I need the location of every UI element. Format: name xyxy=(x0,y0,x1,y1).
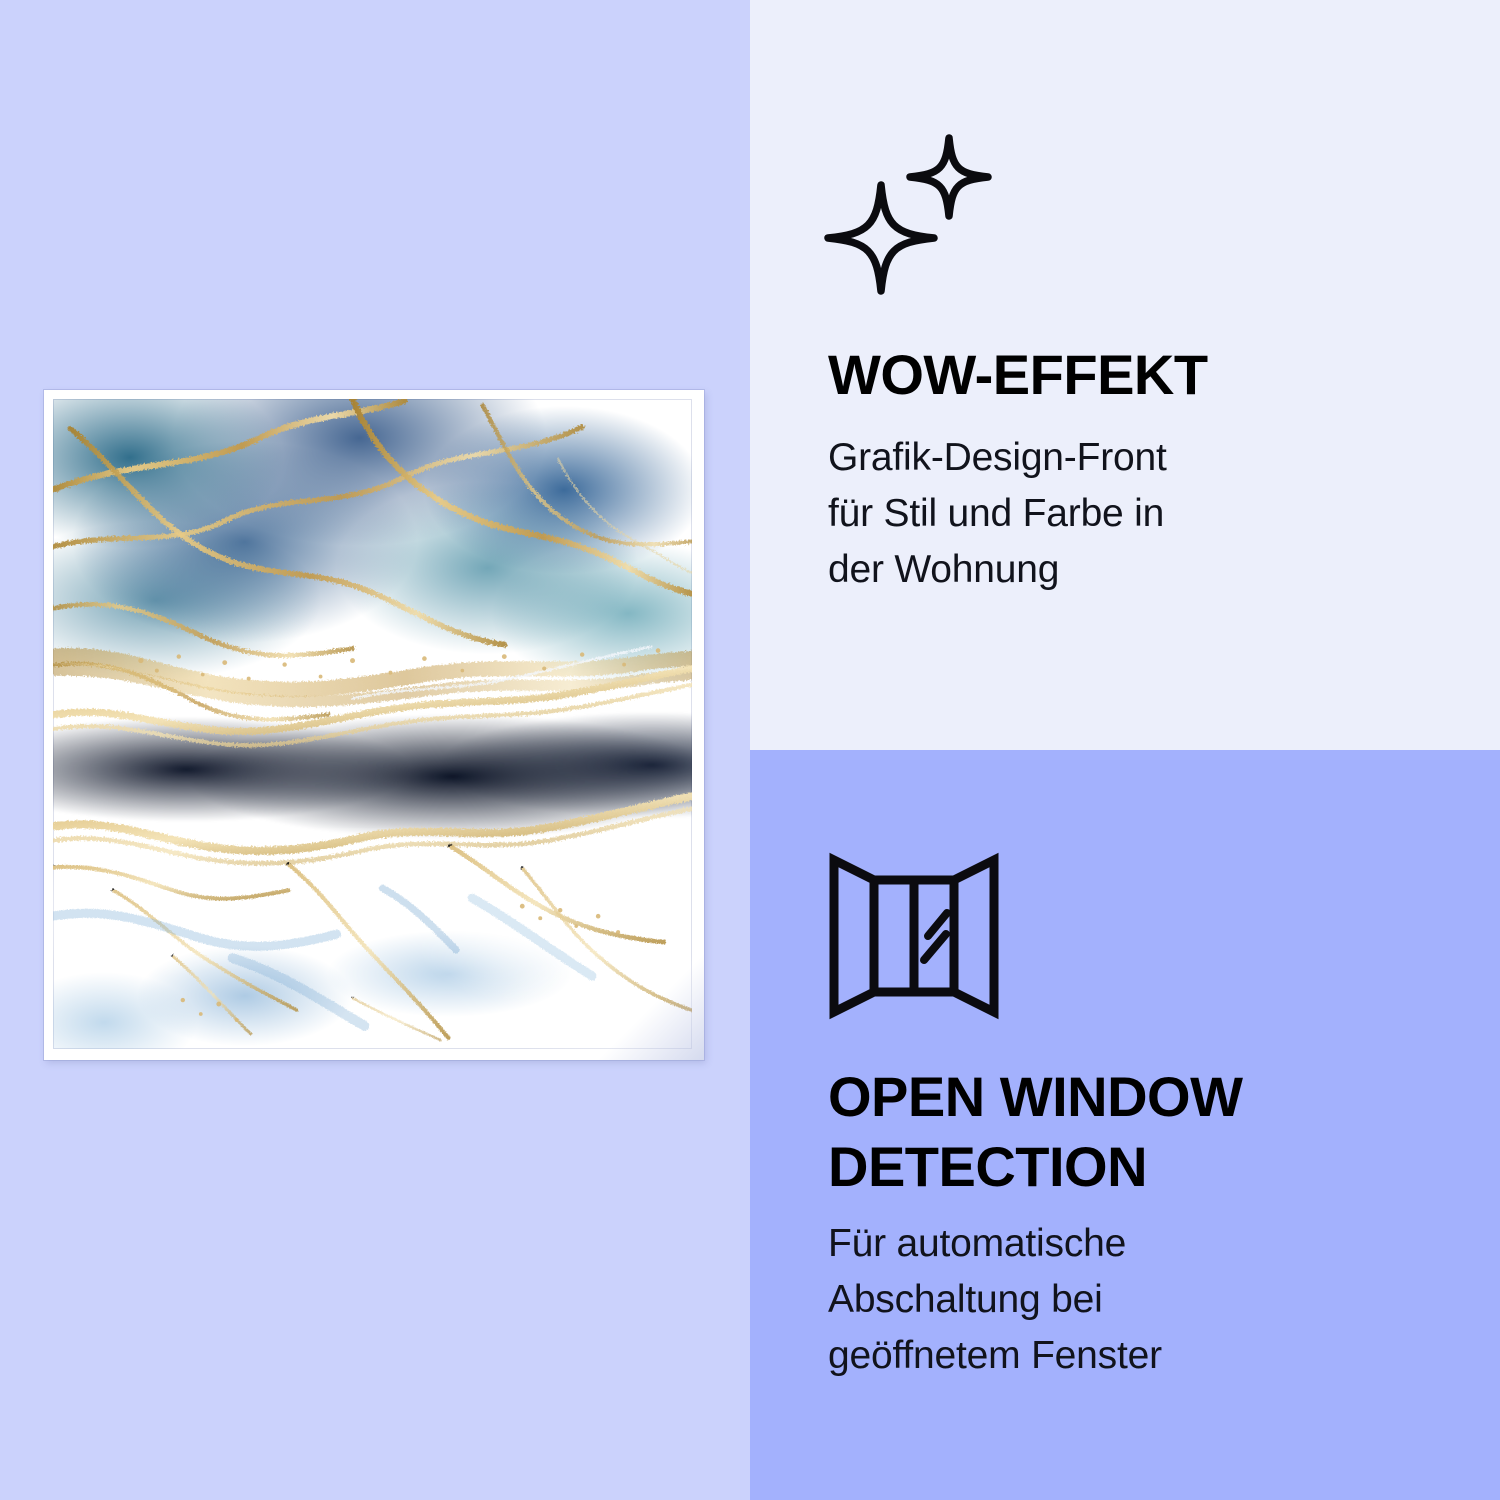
feature-heading-line: OPEN WINDOW xyxy=(828,1062,1454,1132)
feature-body-line: der Wohnung xyxy=(828,542,1460,598)
open-window-icon xyxy=(828,850,1000,1027)
feature-body-line: Für automatische xyxy=(828,1216,1460,1272)
sparkle-icon xyxy=(824,128,994,303)
feature-body-line: Grafik-Design-Front xyxy=(828,430,1460,486)
feature-body-wow-effekt: Grafik-Design-Front für Stil und Farbe i… xyxy=(828,430,1460,598)
feature-body-open-window-detection: Für automatische Abschaltung bei geöffne… xyxy=(828,1216,1460,1384)
picture-frame xyxy=(44,390,704,1060)
feature-body-line: geöffnetem Fenster xyxy=(828,1328,1460,1384)
feature-heading-line: DETECTION xyxy=(828,1132,1454,1202)
feature-body-line: Abschaltung bei xyxy=(828,1272,1460,1328)
feature-body-line: für Stil und Farbe in xyxy=(828,486,1460,542)
feature-heading-wow-effekt: WOW-EFFEKT xyxy=(828,340,1454,410)
product-image-column xyxy=(0,0,750,1500)
feature-panel-open-window-detection: OPEN WINDOW DETECTION Für automatische A… xyxy=(750,750,1500,1500)
feature-card-page: WOW-EFFEKT Grafik-Design-Front für Stil … xyxy=(0,0,1500,1500)
marble-artwork-canvas xyxy=(53,399,692,1049)
framed-artwork[interactable] xyxy=(44,390,704,1060)
feature-panel-wow-effekt: WOW-EFFEKT Grafik-Design-Front für Stil … xyxy=(750,0,1500,750)
feature-column: WOW-EFFEKT Grafik-Design-Front für Stil … xyxy=(750,0,1500,1500)
feature-heading-open-window-detection: OPEN WINDOW DETECTION xyxy=(828,1062,1454,1202)
marble-gold-veins xyxy=(53,399,692,1048)
